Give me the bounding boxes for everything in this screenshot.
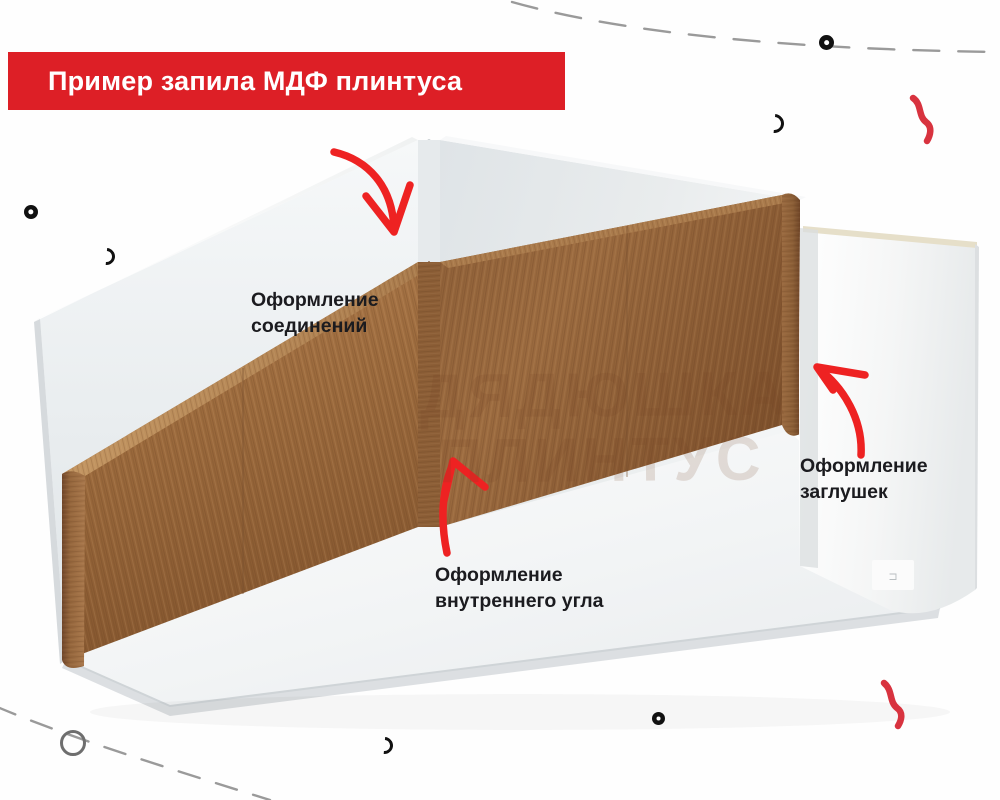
squiggle-top-right — [913, 98, 930, 141]
banner-title: Пример запила МДФ плинтуса — [48, 66, 462, 97]
dashed-arc-top — [512, 2, 1000, 52]
callout-label-end-caps: Оформление заглушек — [800, 454, 928, 506]
end-cap-shadow — [800, 228, 818, 568]
title-banner: Пример запила МДФ плинтуса — [8, 52, 565, 110]
callout-label-inner-corner: Оформление внутреннего угла — [435, 563, 603, 615]
end-cap-sticker-glyph: ⊐ — [888, 571, 897, 583]
end-cap-panel — [799, 228, 977, 613]
callout-label-joints: Оформление соединений — [251, 288, 379, 340]
watermark-line-2: ПЛИНТУС — [438, 424, 765, 498]
infographic-canvas: ⊐ — [0, 0, 1000, 800]
watermark-line-1: ДЯДЮШКА — [420, 358, 790, 432]
end-cap-right-edge — [975, 244, 979, 590]
